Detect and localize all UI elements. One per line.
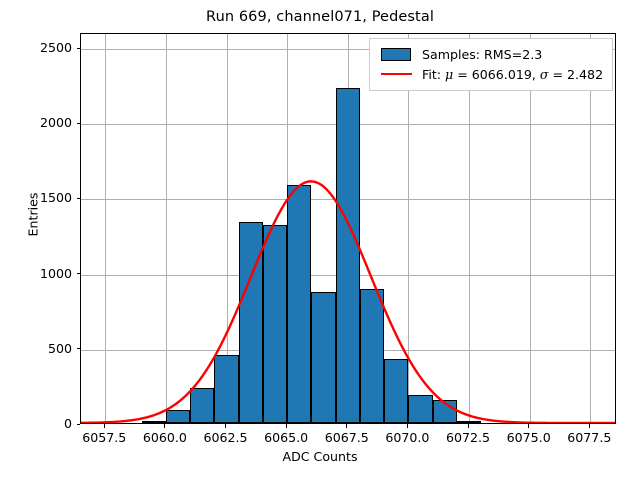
x-tick-mark: [468, 424, 469, 428]
y-tick-mark: [77, 273, 81, 274]
legend-item-samples[interactable]: Samples: RMS=2.3: [379, 44, 603, 64]
legend-key-samples: [379, 48, 413, 61]
gaussian-fit-curve: [81, 34, 615, 423]
legend-fit-sigma: = 2.482: [548, 67, 603, 82]
legend-label-samples: Samples: RMS=2.3: [422, 47, 542, 62]
legend-label-fit: Fit: μ = 6066.019, σ = 2.482: [422, 67, 603, 82]
x-tick-label: 6077.5: [544, 430, 634, 445]
y-tick-mark: [77, 424, 81, 425]
y-tick-mark: [77, 348, 81, 349]
legend-patch-icon: [381, 48, 411, 61]
legend-item-fit[interactable]: Fit: μ = 6066.019, σ = 2.482: [379, 64, 603, 84]
y-tick-label: 2500: [4, 40, 72, 55]
legend-key-fit: [379, 73, 413, 75]
y-tick-mark: [77, 48, 81, 49]
y-tick-label: 0: [4, 416, 72, 431]
y-tick-label: 500: [4, 341, 72, 356]
x-tick-mark: [407, 424, 408, 428]
x-tick-mark: [104, 424, 105, 428]
matplotlib-figure: Run 669, channel071, Pedestal 0500100015…: [0, 0, 640, 480]
fit-curve-path: [81, 181, 615, 423]
mu-symbol: μ: [445, 67, 453, 82]
x-tick-mark: [164, 424, 165, 428]
legend-fit-prefix: Fit:: [422, 67, 445, 82]
y-axis-label: Entries: [26, 155, 41, 275]
y-tick-mark: [77, 123, 81, 124]
plot-area: [80, 33, 616, 424]
x-tick-mark: [286, 424, 287, 428]
legend-line-icon: [381, 73, 412, 75]
y-tick-label: 2000: [4, 115, 72, 130]
x-axis-label: ADC Counts: [0, 449, 640, 464]
x-tick-mark: [589, 424, 590, 428]
x-tick-mark: [346, 424, 347, 428]
x-tick-mark: [528, 424, 529, 428]
x-tick-mark: [225, 424, 226, 428]
legend-fit-mu: = 6066.019,: [453, 67, 540, 82]
legend[interactable]: Samples: RMS=2.3 Fit: μ = 6066.019, σ = …: [369, 38, 613, 91]
chart-title: Run 669, channel071, Pedestal: [0, 9, 640, 25]
y-tick-mark: [77, 198, 81, 199]
